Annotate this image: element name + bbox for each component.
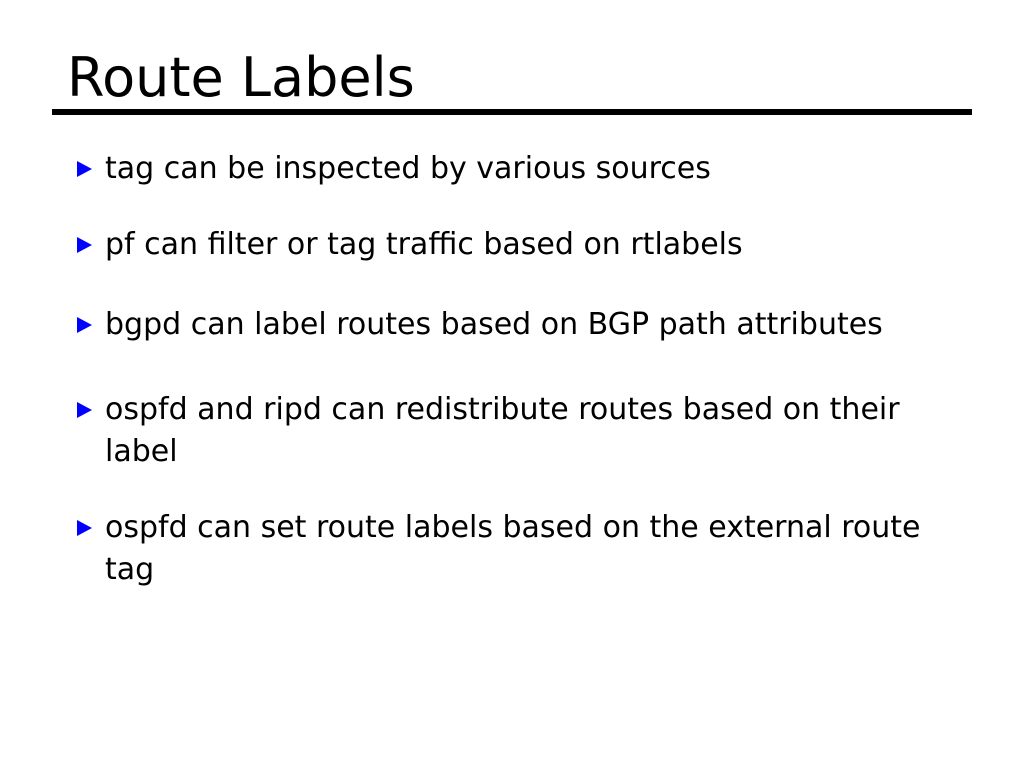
list-item-label: tag can be inspected by various sources	[105, 148, 977, 190]
triangle-right-icon	[77, 317, 92, 333]
list-item: pf can filter or tag traffic based on rt…	[77, 224, 977, 266]
list-item-label: bgpd can label routes based on BGP path …	[105, 300, 977, 349]
page-title: Route Labels	[52, 50, 972, 106]
title-block: Route Labels	[52, 50, 972, 115]
bullet-list: tag can be inspected by various sources …	[77, 148, 977, 591]
triangle-right-icon	[77, 237, 92, 253]
triangle-right-icon	[77, 161, 92, 177]
triangle-right-icon	[77, 402, 92, 418]
title-divider	[52, 109, 972, 115]
list-item: tag can be inspected by various sources	[77, 148, 977, 190]
triangle-right-icon	[77, 520, 92, 536]
list-item: bgpd can label routes based on BGP path …	[77, 300, 977, 349]
slide: Route Labels tag can be inspected by var…	[0, 0, 1024, 768]
list-item-label: ospfd and ripd can redistribute routes b…	[105, 389, 977, 473]
list-item: ospfd and ripd can redistribute routes b…	[77, 389, 977, 473]
list-item-label: ospfd can set route labels based on the …	[105, 507, 977, 591]
list-item-label: pf can filter or tag traffic based on rt…	[105, 224, 977, 266]
list-item: ospfd can set route labels based on the …	[77, 507, 977, 591]
